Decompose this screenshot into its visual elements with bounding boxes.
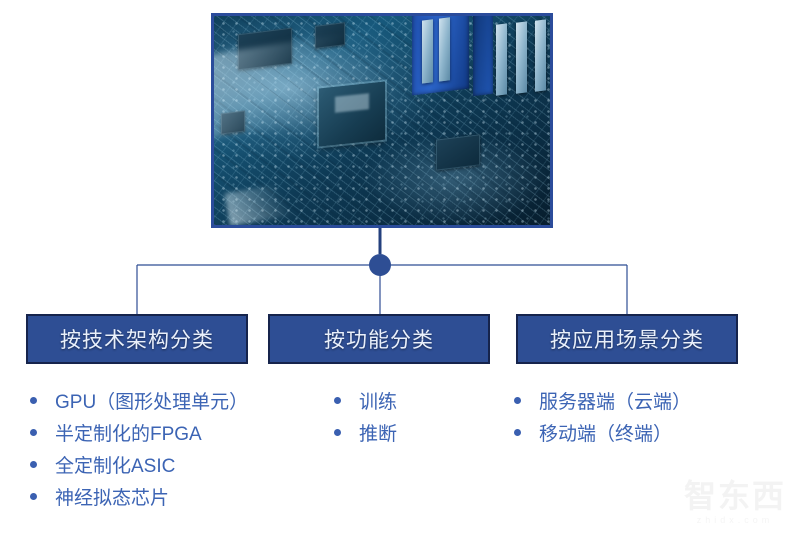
ram-slot-contact [439, 17, 450, 81]
list-item: 移动端（终端） [514, 425, 784, 457]
category-box-label: 按技术架构分类 [60, 324, 214, 354]
list-item-label: 训练 [359, 393, 397, 412]
watermark: 智东西 zhidx.com [684, 480, 786, 525]
watermark-url-text: zhidx.com [684, 515, 786, 525]
hub-node-circle [369, 254, 391, 276]
bullet-dot-icon [514, 429, 521, 436]
category-box-tech-architecture[interactable]: 按技术架构分类 [26, 314, 248, 364]
list-item-label: 推断 [359, 425, 397, 444]
ram-slot-contact [516, 22, 527, 94]
list-item: 训练 [334, 393, 504, 425]
list-item: 神经拟态芯片 [30, 489, 320, 521]
list-item-label: 神经拟态芯片 [55, 489, 169, 508]
bullet-dot-icon [30, 397, 37, 404]
bullet-dot-icon [334, 397, 341, 404]
list-item-label: 移动端（终端） [539, 425, 672, 444]
list-item: 推断 [334, 425, 504, 457]
bullet-dot-icon [334, 429, 341, 436]
category-box-label: 按应用场景分类 [550, 324, 704, 354]
bullet-list-tech-architecture: GPU（图形处理单元） 半定制化的FPGA 全定制化ASIC 神经拟态芯片 [30, 393, 320, 521]
watermark-logo-text: 智东西 [684, 480, 786, 512]
bullet-dot-icon [30, 461, 37, 468]
bullet-dot-icon [30, 493, 37, 500]
list-item-label: 服务器端（云端） [539, 393, 691, 412]
bullet-list-function: 训练 推断 [334, 393, 504, 457]
list-item: 半定制化的FPGA [30, 425, 320, 457]
ram-slot-contact [422, 20, 433, 84]
bullet-dot-icon [514, 397, 521, 404]
list-item: 服务器端（云端） [514, 393, 784, 425]
list-item: GPU（图形处理单元） [30, 393, 320, 425]
pci-slot-small [473, 13, 493, 97]
bullet-dot-icon [30, 429, 37, 436]
list-item-label: 半定制化的FPGA [55, 425, 202, 444]
bullet-list-application-scenario: 服务器端（云端） 移动端（终端） [514, 393, 784, 457]
category-box-function[interactable]: 按功能分类 [268, 314, 490, 364]
surface-mount-component [436, 135, 480, 172]
list-item-label: 全定制化ASIC [55, 457, 175, 476]
category-box-application-scenario[interactable]: 按应用场景分类 [516, 314, 738, 364]
ram-slot-contact [535, 19, 546, 91]
list-item-label: GPU（图形处理单元） [55, 393, 248, 412]
list-item: 全定制化ASIC [30, 457, 320, 489]
ram-slot-contact [496, 24, 507, 96]
category-box-label: 按功能分类 [324, 324, 434, 354]
circuit-board-image [211, 13, 553, 228]
